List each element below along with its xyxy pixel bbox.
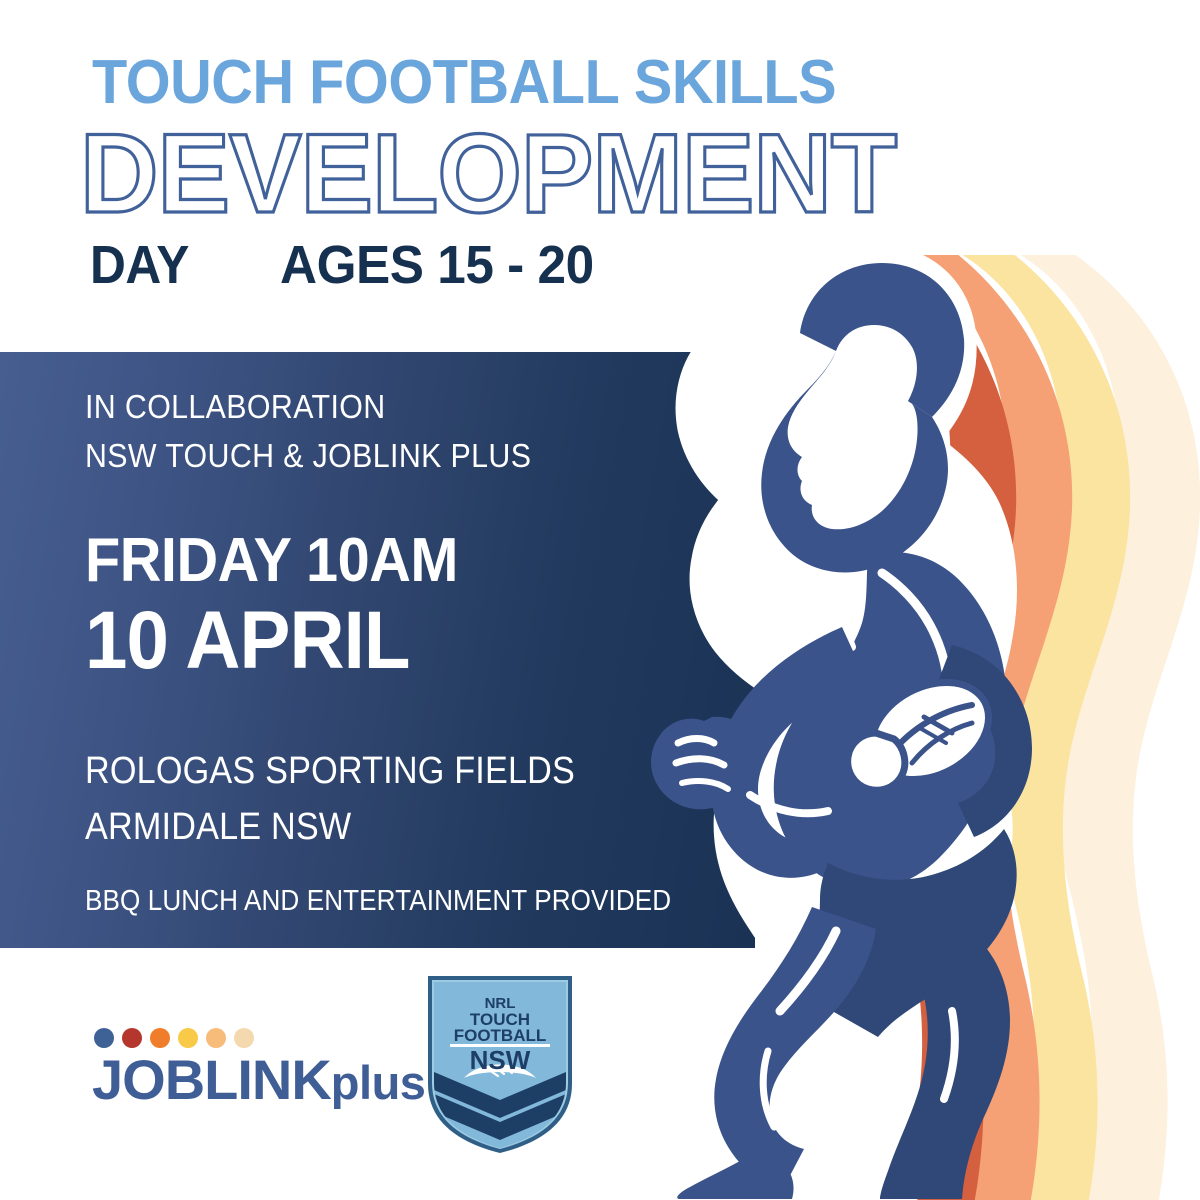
event-info-content: IN COLLABORATION NSW TOUCH & JOBLINK PLU…: [85, 352, 685, 948]
event-day-time: FRIDAY 10AM: [85, 530, 458, 592]
event-date: 10 APRIL: [85, 600, 410, 682]
joblink-plus-logo: JOBLINKplus: [92, 1028, 392, 1128]
joblink-dot-row: [94, 1028, 254, 1048]
dot-yellow-icon: [178, 1028, 198, 1048]
dot-blue-icon: [94, 1028, 114, 1048]
athlete-ball-hand: [848, 733, 905, 790]
dot-peach-icon: [234, 1028, 254, 1048]
badge-line-nsw: NSW: [470, 1045, 531, 1075]
poster-header: TOUCH FOOTBALL SKILLS DEVELOPMENT DAYAGE…: [0, 0, 1200, 352]
poster-canvas: TOUCH FOOTBALL SKILLS DEVELOPMENT DAYAGE…: [0, 0, 1200, 1200]
joblink-wordmark: JOBLINKplus: [92, 1052, 425, 1108]
badge-line-football: FOOTBALL: [454, 1026, 547, 1045]
collaboration-line-1: IN COLLABORATION: [85, 390, 386, 423]
dot-orange-icon: [150, 1028, 170, 1048]
headline-ages: AGES 15 - 20: [280, 238, 594, 292]
headline-subrow: DAYAGES 15 - 20: [90, 238, 610, 292]
headline-development: DEVELOPMENT: [80, 118, 896, 230]
running-player-illustration: [600, 255, 1200, 1200]
event-extras-note: BBQ LUNCH AND ENTERTAINMENT PROVIDED: [85, 887, 671, 916]
joblink-word-primary: JOBLINK: [92, 1048, 331, 1111]
collaboration-line-2: NSW TOUCH & JOBLINK PLUS: [85, 439, 531, 472]
joblink-word-secondary: plus: [331, 1056, 426, 1109]
headline-day: DAY: [90, 238, 189, 292]
dot-red-icon: [122, 1028, 142, 1048]
venue-location: ARMIDALE NSW: [85, 808, 351, 846]
dot-light-orange-icon: [206, 1028, 226, 1048]
nrl-touch-football-nsw-badge: NRL TOUCH FOOTBALL NSW: [424, 972, 576, 1154]
venue-name: ROLOGAS SPORTING FIELDS: [85, 752, 575, 790]
headline-touch-football-skills: TOUCH FOOTBALL SKILLS: [92, 52, 836, 114]
